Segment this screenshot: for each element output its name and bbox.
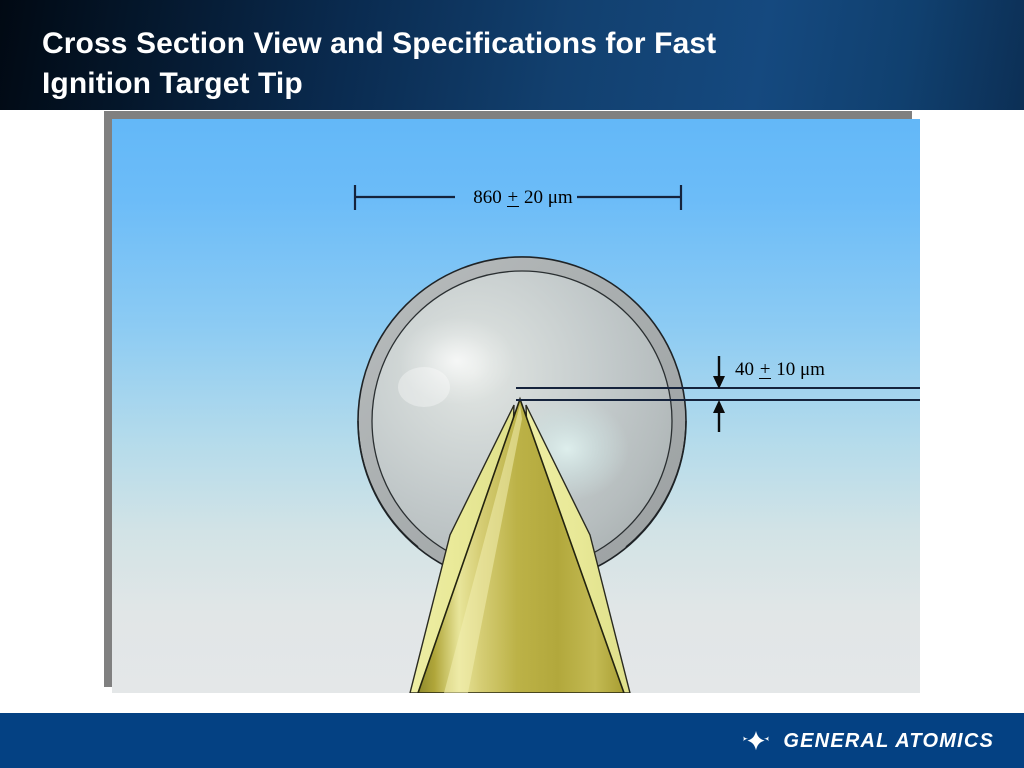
page-title: Cross Section View and Specifications fo… xyxy=(42,24,922,104)
slide-footer: GENERAL ATOMICS xyxy=(0,713,1024,768)
figure-panel: 860 + 20 μm 40 + 10 μm xyxy=(112,119,920,693)
plus-minus-icon: + xyxy=(507,187,520,209)
dim-right-units: μm xyxy=(800,359,825,380)
general-atomics-logo: GENERAL ATOMICS xyxy=(739,727,994,755)
plus-minus-icon: + xyxy=(759,359,772,381)
dim-right-tolerance: 10 xyxy=(776,359,795,380)
dim-top-value: 860 xyxy=(473,187,502,208)
dimension-shell-thickness-arrows xyxy=(713,356,725,432)
dim-top-units: μm xyxy=(548,187,573,208)
page-title-line-1: Cross Section View and Specifications fo… xyxy=(42,27,716,60)
dimension-label-outer-diameter: 860 + 20 μm xyxy=(458,187,588,209)
dimension-label-shell-thickness: 40 + 10 μm xyxy=(735,359,825,381)
slide-body: 860 + 20 μm 40 + 10 μm xyxy=(0,110,1024,713)
dim-top-tolerance: 20 xyxy=(524,187,543,208)
dim-right-value: 40 xyxy=(735,359,754,380)
slide-header: Cross Section View and Specifications fo… xyxy=(0,0,1024,110)
page-title-line-2: Ignition Target Tip xyxy=(42,67,303,100)
four-point-star-icon xyxy=(739,727,773,755)
general-atomics-wordmark: GENERAL ATOMICS xyxy=(783,730,994,753)
